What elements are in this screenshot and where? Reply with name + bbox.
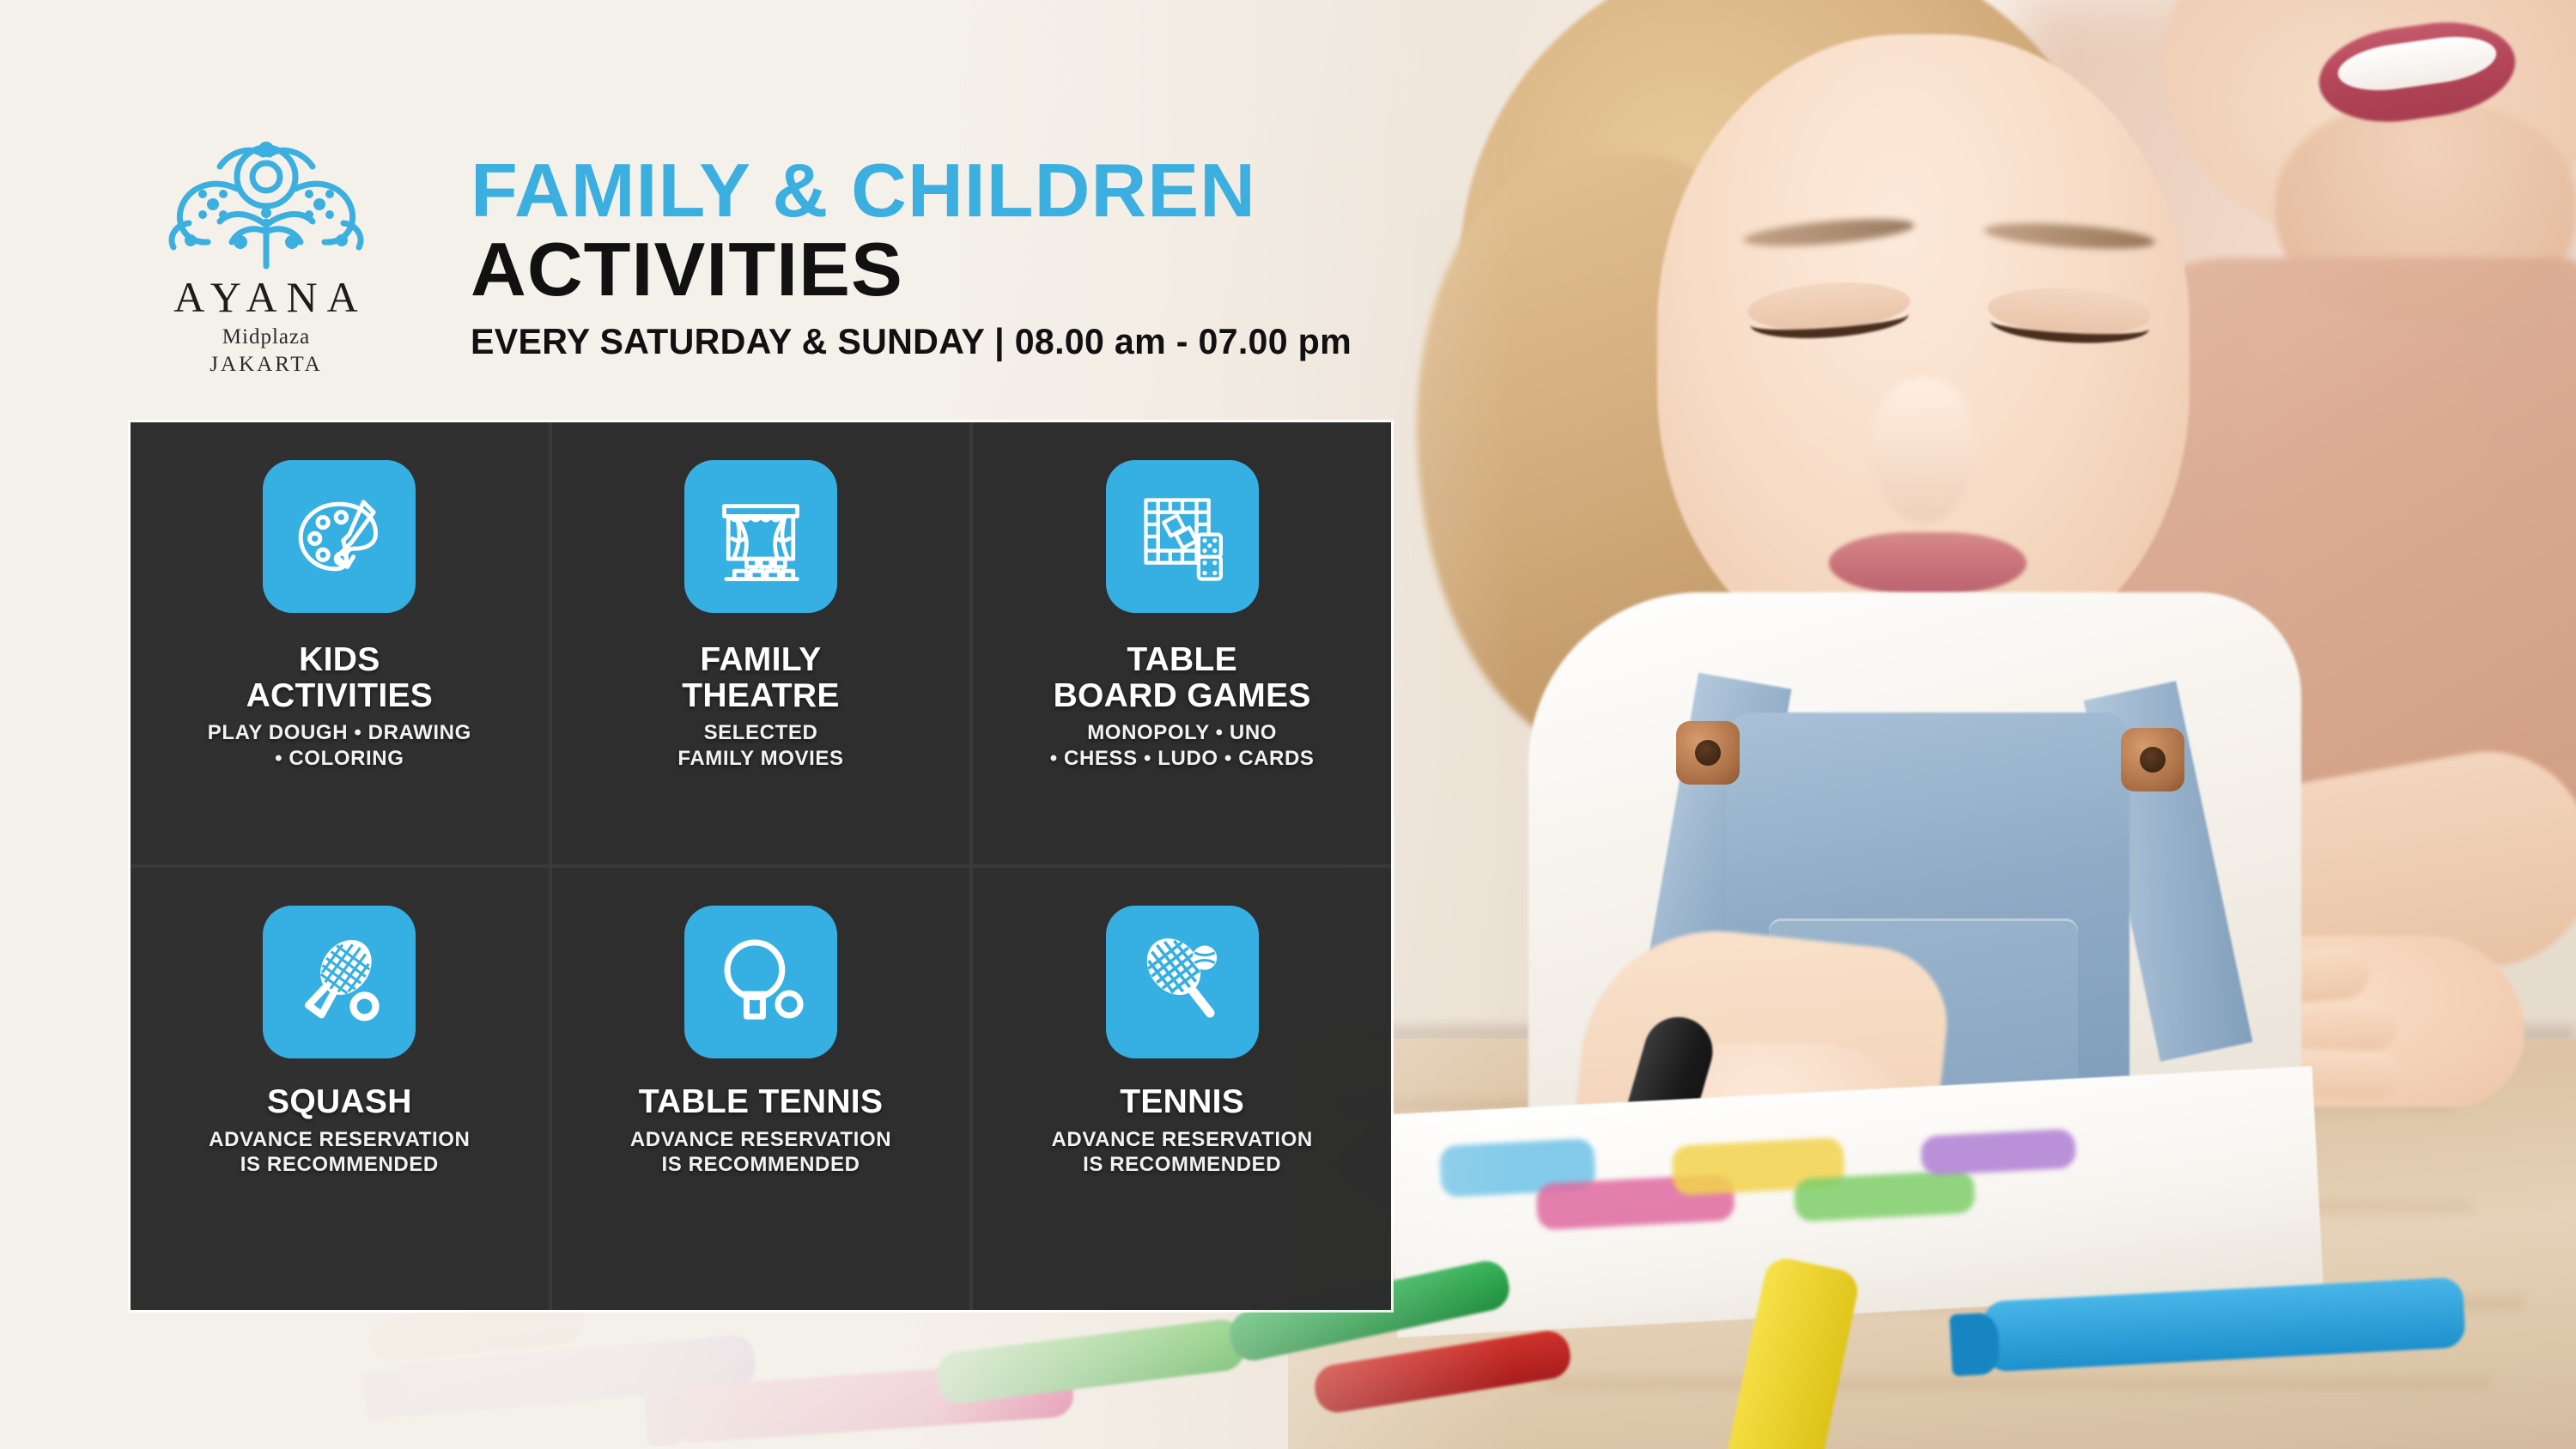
activity-subtitle: SELECTED FAMILY MOVIES	[677, 720, 843, 771]
overall-buckle-right	[2121, 728, 2184, 791]
activity-sub-line-2: IS RECOMMENDED	[661, 1153, 860, 1176]
activity-title-line-1: FAMILY	[700, 641, 821, 678]
brand-name: AYANA	[146, 276, 395, 318]
headline-line-2: ACTIVITIES	[471, 231, 1388, 309]
schedule-text: EVERY SATURDAY & SUNDAY | 08.00 am - 07.…	[471, 321, 1352, 362]
activity-sub-line-1: MONOPOLY • UNO	[1087, 721, 1277, 744]
paint-palette-icon	[289, 486, 390, 587]
activity-sub-line-2: • COLORING	[275, 747, 404, 770]
brand-property: Midplaza	[137, 326, 395, 348]
icon-container	[684, 460, 837, 613]
activity-title-line-1: TENNIS	[1120, 1083, 1244, 1120]
activity-subtitle: MONOPOLY • UNO • CHESS • LUDO • CARDS	[1050, 720, 1315, 771]
girl-lips	[1829, 532, 2026, 594]
activity-sub-line-1: SELECTED	[704, 721, 818, 744]
activity-title-line-2: ACTIVITIES	[246, 677, 434, 714]
brand-city: JAKARTA	[137, 354, 395, 375]
activity-title-line-1: TABLE TENNIS	[639, 1083, 884, 1120]
activity-subtitle: ADVANCE RESERVATION IS RECOMMENDED	[630, 1127, 891, 1178]
table-tennis-paddle-icon	[710, 931, 811, 1033]
icon-container	[1106, 460, 1259, 613]
squash-racquet-icon	[289, 931, 390, 1033]
activity-title-line-1: KIDS	[299, 641, 380, 678]
activity-sub-line-2: IS RECOMMENDED	[240, 1153, 439, 1176]
ayana-tree-logo-icon	[137, 129, 395, 270]
activity-card-table-tennis[interactable]: TABLE TENNIS ADVANCE RESERVATION IS RECO…	[552, 868, 970, 1310]
activity-sub-line-2: IS RECOMMENDED	[1083, 1153, 1281, 1176]
activity-subtitle: ADVANCE RESERVATION IS RECOMMENDED	[209, 1127, 470, 1178]
activity-title: SQUASH	[267, 1084, 412, 1120]
girl-nose	[1872, 378, 1975, 524]
activity-card-table-board-games[interactable]: TABLE BOARD GAMES MONOPOLY • UNO • CHESS…	[973, 422, 1391, 864]
tennis-racket-icon	[1132, 931, 1233, 1033]
activity-card-family-theatre[interactable]: FAMILY THEATRE SELECTED FAMILY MOVIES	[552, 422, 970, 864]
activity-card-kids-activities[interactable]: KIDS ACTIVITIES PLAY DOUGH • DRAWING • C…	[131, 422, 549, 864]
activity-title-line-1: TABLE	[1127, 641, 1237, 678]
activity-title: TABLE TENNIS	[639, 1084, 884, 1120]
activity-title: FAMILY THEATRE	[682, 642, 839, 713]
icon-container	[1106, 906, 1259, 1058]
activity-sub-line-1: ADVANCE RESERVATION	[209, 1128, 470, 1151]
activity-title: TENNIS	[1120, 1084, 1244, 1120]
board-game-dice-icon	[1132, 486, 1233, 587]
activity-title-line-2: THEATRE	[682, 677, 839, 714]
activity-card-squash[interactable]: SQUASH ADVANCE RESERVATION IS RECOMMENDE…	[131, 868, 549, 1310]
activity-sub-line-2: FAMILY MOVIES	[677, 747, 843, 770]
icon-container	[684, 906, 837, 1058]
crayon-blue-tip	[1949, 1313, 2001, 1377]
activity-title-line-1: SQUASH	[267, 1083, 412, 1120]
promo-banner: AYANA Midplaza JAKARTA FAMILY & CHILDREN…	[0, 0, 2576, 1449]
headline-block: FAMILY & CHILDREN ACTIVITIES EVERY SATUR…	[471, 153, 1370, 362]
activity-title-line-2: BOARD GAMES	[1054, 677, 1311, 714]
headline-line-1: FAMILY & CHILDREN	[471, 153, 1388, 227]
activity-card-tennis[interactable]: TENNIS ADVANCE RESERVATION IS RECOMMENDE…	[973, 868, 1391, 1310]
activity-title: TABLE BOARD GAMES	[1054, 642, 1311, 713]
activity-sub-line-1: PLAY DOUGH • DRAWING	[208, 721, 471, 744]
activity-sub-line-2: • CHESS • LUDO • CARDS	[1050, 747, 1315, 770]
activity-subtitle: PLAY DOUGH • DRAWING • COLORING	[208, 720, 471, 771]
activity-subtitle: ADVANCE RESERVATION IS RECOMMENDED	[1051, 1127, 1312, 1178]
activity-title: KIDS ACTIVITIES	[246, 642, 434, 713]
theatre-stage-icon	[710, 486, 811, 587]
brand-logo: AYANA Midplaza JAKARTA	[137, 129, 395, 375]
activity-sub-line-1: ADVANCE RESERVATION	[1051, 1128, 1312, 1151]
activities-grid: KIDS ACTIVITIES PLAY DOUGH • DRAWING • C…	[131, 422, 1391, 1310]
overall-buckle-left	[1676, 721, 1740, 785]
icon-container	[263, 906, 416, 1058]
activity-sub-line-1: ADVANCE RESERVATION	[630, 1128, 891, 1151]
icon-container	[263, 460, 416, 613]
